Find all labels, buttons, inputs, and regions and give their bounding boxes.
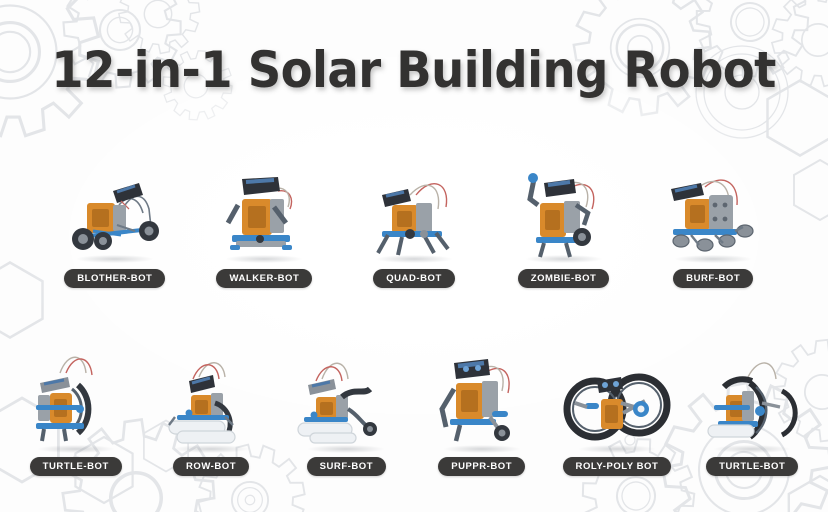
puppr-bot-image <box>426 347 538 451</box>
surf-bot-image <box>290 347 402 451</box>
robot-card-walker[interactable]: WALKER-BOT <box>190 165 340 288</box>
robot-label: QUAD-BOT <box>373 269 455 288</box>
drop-shadow <box>526 255 602 263</box>
robot-card-burf[interactable]: BURF-BOT <box>638 165 788 288</box>
robot-row-1: BLOTHER-BOT <box>40 160 788 288</box>
robot-card-blother[interactable]: BLOTHER-BOT <box>40 165 190 288</box>
robot-label: PUPPR-BOT <box>438 457 525 476</box>
robot-card-turtle-2[interactable]: TURTLE-BOT <box>685 347 820 476</box>
robot-label: TURTLE-BOT <box>30 457 122 476</box>
page-title-wrap: 12-in-1 Solar Building Robot <box>0 42 828 98</box>
robot-label: BLOTHER-BOT <box>64 269 165 288</box>
robot-label: ROLY-POLY BOT <box>563 457 672 476</box>
robot-label: BURF-BOT <box>673 269 753 288</box>
robot-label: SURF-BOT <box>307 457 386 476</box>
robot-card-puppr[interactable]: PUPPR-BOT <box>414 347 549 476</box>
drop-shadow <box>376 255 452 263</box>
robot-card-surf[interactable]: SURF-BOT <box>279 347 414 476</box>
quad-bot-image <box>358 165 470 261</box>
row-bot-image <box>155 347 267 451</box>
burf-bot-image <box>657 165 769 261</box>
drop-shadow <box>675 255 751 263</box>
drop-shadow <box>77 255 153 263</box>
robot-card-rolypoly[interactable]: ROLY-POLY BOT <box>549 347 684 476</box>
robot-card-row[interactable]: ROW-BOT <box>143 347 278 476</box>
walker-bot-image <box>208 165 320 261</box>
robot-card-quad[interactable]: QUAD-BOT <box>339 165 489 288</box>
drop-shadow <box>38 445 114 453</box>
robot-label: ZOMBIE-BOT <box>518 269 610 288</box>
robot-card-turtle[interactable]: TURTLE-BOT <box>8 347 143 476</box>
turtle-bot-2-image <box>696 347 808 451</box>
turtle-bot-image <box>20 347 132 451</box>
infographic-canvas: 12-in-1 Solar Building Robot <box>0 0 828 512</box>
robot-label: ROW-BOT <box>173 457 249 476</box>
drop-shadow <box>444 445 520 453</box>
zombie-bot-image <box>508 165 620 261</box>
robot-label: TURTLE-BOT <box>706 457 798 476</box>
drop-shadow <box>308 445 384 453</box>
drop-shadow <box>173 445 249 453</box>
page-title: 12-in-1 Solar Building Robot <box>52 42 777 98</box>
drop-shadow <box>226 255 302 263</box>
robot-card-zombie[interactable]: ZOMBIE-BOT <box>489 165 639 288</box>
robot-label: WALKER-BOT <box>216 269 312 288</box>
robot-row-2: TURTLE-BOT <box>8 336 820 476</box>
drop-shadow <box>714 445 790 453</box>
roly-poly-bot-image <box>561 347 673 451</box>
blother-bot-image <box>59 165 171 261</box>
drop-shadow <box>579 445 655 453</box>
